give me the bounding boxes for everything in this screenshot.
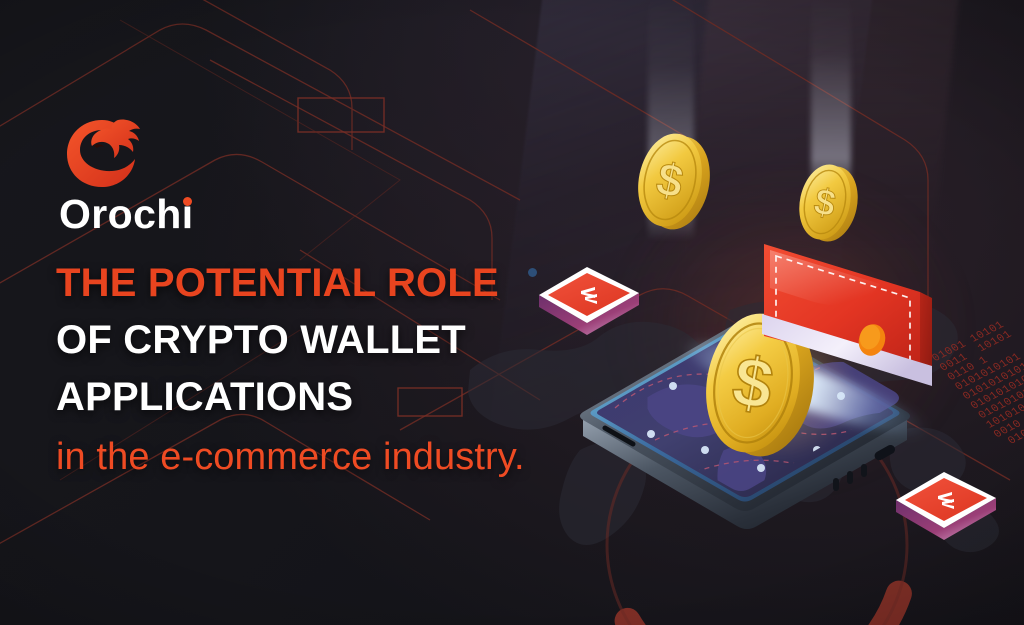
isometric-card-tile-top	[533, 253, 645, 335]
isometric-card-tile-bottom	[890, 458, 1002, 540]
banner-root: 01001 10101 0011 10101 0110 1 0101010101…	[0, 0, 1024, 625]
red-wallet	[760, 230, 970, 450]
